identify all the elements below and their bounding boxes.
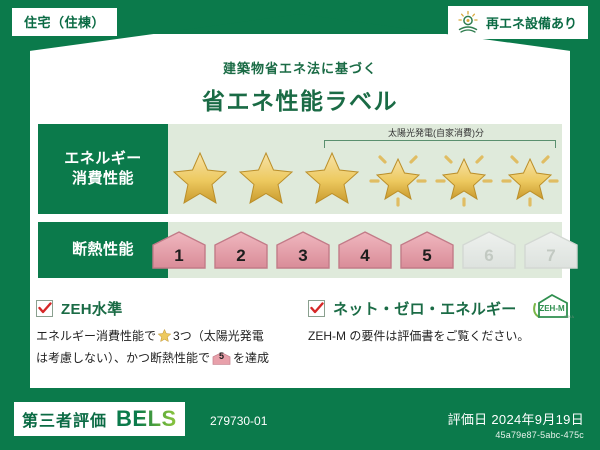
check-icon bbox=[310, 302, 324, 314]
insulation-level-value: 5 bbox=[422, 247, 431, 271]
insulation-level-value: 3 bbox=[298, 247, 307, 271]
housing-type-tag: 住宅（住棟） bbox=[12, 8, 117, 36]
label-uuid: 45a79e87-5abc-475c bbox=[448, 430, 584, 440]
insulation-performance-label: 断熱性能 bbox=[38, 222, 168, 278]
insulation-rating-body: 1 2 3 4 bbox=[168, 222, 562, 278]
insulation-level-badge: 2 bbox=[212, 229, 270, 271]
net-zero-checkbox[interactable] bbox=[308, 300, 325, 317]
check-icon bbox=[38, 302, 52, 314]
energy-performance-label: エネルギー 消費性能 bbox=[38, 124, 168, 214]
insulation-level-row: 1 2 3 4 bbox=[168, 222, 562, 278]
energy-rating-body: 太陽光発電(自家消費)分 bbox=[168, 124, 562, 214]
insulation-label-line1: 断熱性能 bbox=[72, 240, 134, 260]
evaluation-date: 評価日 2024年9月19日 bbox=[448, 409, 584, 428]
energy-label-line1: エネルギー bbox=[64, 149, 142, 169]
star-rating-row bbox=[168, 144, 562, 212]
sun-renewable-icon bbox=[456, 10, 480, 34]
net-zero-criteria-header: ネット・ゼロ・エネルギー ZEH-M ZEH-M. bbox=[308, 296, 580, 320]
star-icon-solar bbox=[433, 147, 495, 209]
certificate-number: 279730-01 bbox=[210, 414, 267, 428]
renewable-badge-label: 再エネ設備あり bbox=[486, 13, 577, 32]
zeh-text-part3: を達成 bbox=[233, 351, 269, 365]
insulation-level-badge-inactive: 6 bbox=[460, 229, 518, 271]
star-icon-solar bbox=[367, 147, 429, 209]
zeh-criteria-text: エネルギー消費性能で 3つ（太陽光発電は考慮しない）、かつ断熱性能で 5を達成 bbox=[36, 327, 308, 367]
zeh-m-logo-icon: ZEH-M ZEH-M. bbox=[528, 292, 574, 325]
svg-text:ZEH-M: ZEH-M bbox=[539, 304, 565, 313]
insulation-level-badge: 3 bbox=[274, 229, 332, 271]
zeh-checkbox[interactable] bbox=[36, 300, 53, 317]
third-party-evaluation-label: 第三者評価 bbox=[22, 407, 107, 431]
inline-badge-value: 5 bbox=[212, 351, 231, 366]
star-icon bbox=[235, 147, 297, 209]
label-subtitle: 建築物省エネ法に基づく bbox=[0, 58, 600, 77]
insulation-performance-row: 断熱性能 1 bbox=[38, 222, 562, 278]
zeh-text-part1: エネルギー消費性能で bbox=[36, 329, 156, 343]
energy-performance-label: 住宅（住棟） 再エネ設備あり 建築物省エネ法に基づく 省エネ性能ラベル エネ bbox=[0, 0, 600, 450]
star-icon bbox=[169, 147, 231, 209]
zeh-criteria-title: ZEH水準 bbox=[61, 298, 123, 319]
insulation-level-value: 7 bbox=[546, 247, 555, 271]
insulation-level-value: 6 bbox=[484, 247, 493, 271]
performance-panel: エネルギー 消費性能 太陽光発電(自家消費)分 bbox=[30, 124, 570, 294]
net-zero-criteria-text: ZEH-M の要件は評価書をご覧ください。 bbox=[308, 327, 580, 346]
energy-performance-row: エネルギー 消費性能 太陽光発電(自家消費)分 bbox=[38, 124, 562, 214]
zeh-criteria-header: ZEH水準 bbox=[36, 296, 308, 320]
insulation-level-value: 1 bbox=[174, 247, 183, 271]
star-icon bbox=[301, 147, 363, 209]
insulation-level-value: 2 bbox=[236, 247, 245, 271]
solar-generation-note: 太陽光発電(自家消費)分 bbox=[316, 126, 556, 139]
star-icon-solar bbox=[499, 147, 561, 209]
net-zero-criteria-block: ネット・ゼロ・エネルギー ZEH-M ZEH-M. ZEH-M の要件は評価書を… bbox=[308, 296, 580, 346]
bels-certification-badge: 第三者評価 BELS bbox=[14, 402, 185, 436]
renewable-equipment-badge: 再エネ設備あり bbox=[448, 6, 588, 39]
zeh-star-count: 3つ（太陽光発電 bbox=[173, 329, 264, 343]
page-title-block: 建築物省エネ法に基づく 省エネ性能ラベル bbox=[0, 58, 600, 116]
insulation-level-badge: 4 bbox=[336, 229, 394, 271]
page-title: 省エネ性能ラベル bbox=[0, 82, 600, 116]
svg-text:ZEH-M.: ZEH-M. bbox=[564, 315, 574, 319]
energy-label-line2: 消費性能 bbox=[72, 169, 134, 189]
zeh-text-part2: は考慮しない）、かつ断熱性能で bbox=[36, 351, 210, 365]
inline-star-icon bbox=[157, 328, 172, 349]
insulation-level-value: 4 bbox=[360, 247, 369, 271]
zeh-criteria-block: ZEH水準 エネルギー消費性能で 3つ（太陽光発電は考慮しない）、かつ断熱性能で… bbox=[36, 296, 308, 367]
bels-logo-text: BELS bbox=[116, 406, 177, 432]
insulation-level-badge-inactive: 7 bbox=[522, 229, 580, 271]
net-zero-criteria-title: ネット・ゼロ・エネルギー bbox=[333, 298, 517, 319]
insulation-level-badge-achieved: 5 bbox=[398, 229, 456, 271]
footer-meta: 評価日 2024年9月19日 45a79e87-5abc-475c bbox=[448, 409, 584, 440]
inline-insulation-badge-icon: 5 bbox=[212, 351, 231, 366]
criteria-section: ZEH水準 エネルギー消費性能で 3つ（太陽光発電は考慮しない）、かつ断熱性能で… bbox=[30, 296, 570, 388]
insulation-level-badge: 1 bbox=[150, 229, 208, 271]
